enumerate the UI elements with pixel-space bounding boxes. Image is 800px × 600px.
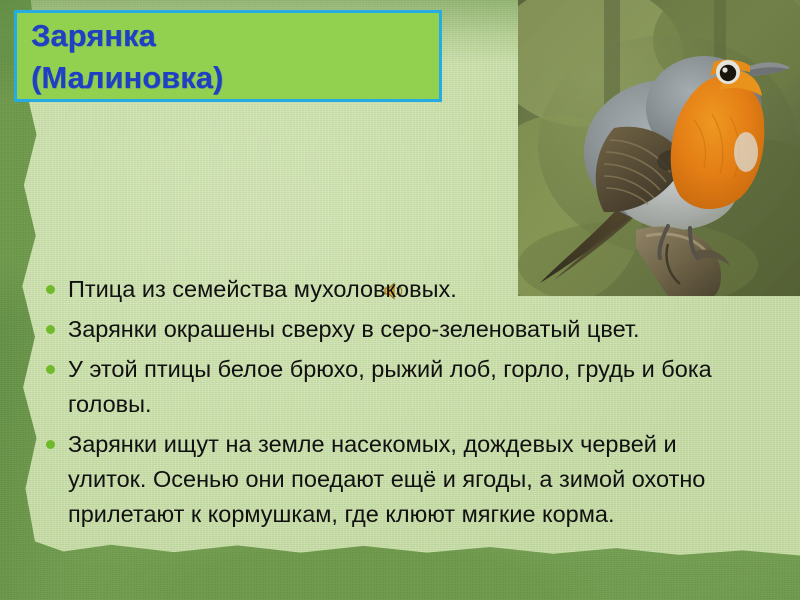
title-box[interactable]: Зарянка (Малиновка): [14, 10, 442, 102]
list-item-text: Зарянки ищут на земле насекомых, дождевы…: [68, 431, 705, 527]
list-item: Зарянки окрашены сверху в серо-зеленоват…: [42, 312, 742, 347]
list-item: Птица из семейства мухоловковых.: [42, 272, 742, 307]
bullet-dot-icon: [46, 440, 55, 449]
bullet-list: Птица из семейства мухоловковых. Зарянки…: [42, 272, 742, 537]
list-item-text: Зарянки окрашены сверху в серо-зеленоват…: [68, 316, 640, 342]
bird-photo[interactable]: [518, 0, 800, 296]
list-item: Зарянки ищут на земле насекомых, дождевы…: [42, 427, 742, 532]
list-item: У этой птицы белое брюхо, рыжий лоб, гор…: [42, 352, 742, 422]
bullet-dot-icon: [46, 365, 55, 374]
slide-title: Зарянка (Малиновка): [31, 15, 439, 99]
robin-photo-illustration: [518, 0, 800, 296]
list-item-text: У этой птицы белое брюхо, рыжий лоб, гор…: [68, 356, 712, 417]
list-item-text: Птица из семейства мухоловковых.: [68, 276, 457, 302]
bullet-dot-icon: [46, 325, 55, 334]
bullet-dot-icon: [46, 285, 55, 294]
presentation-slide: Зарянка (Малиновка): [0, 0, 800, 600]
